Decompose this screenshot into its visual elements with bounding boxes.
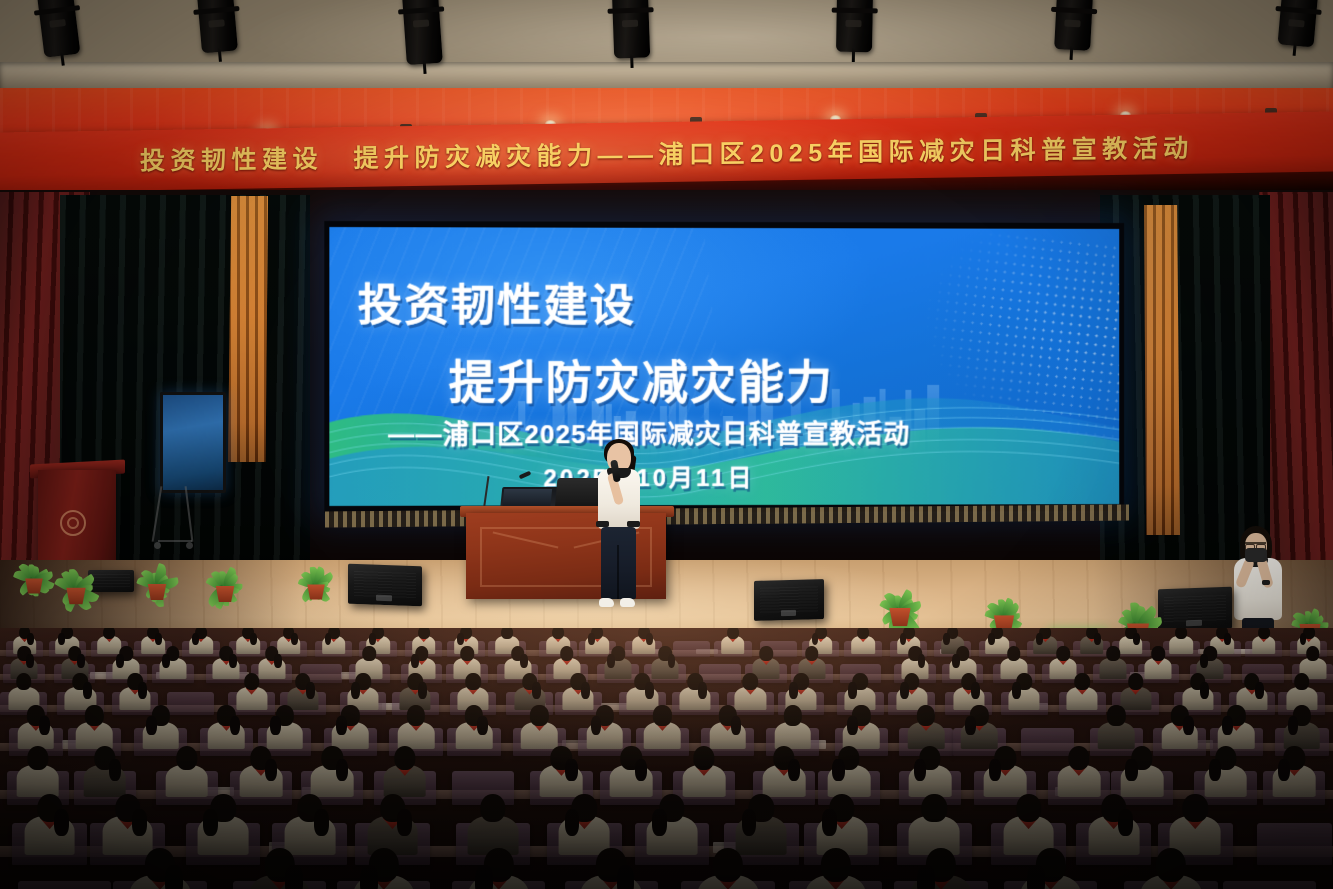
student-head	[743, 673, 759, 690]
slide-subtitle: ——浦口区2025年国际减灾日科普宣教活动	[388, 414, 910, 452]
audience-student	[159, 646, 186, 682]
light-yoke	[832, 8, 878, 14]
student-ponytail	[591, 716, 602, 735]
light-yoke	[34, 5, 80, 16]
student-head	[857, 628, 869, 639]
student-head	[480, 794, 505, 822]
student-head	[530, 705, 548, 725]
student-ponytail	[306, 682, 315, 699]
audience-student	[1161, 705, 1198, 753]
student-ponytail	[822, 809, 837, 836]
light-yoke	[398, 6, 444, 14]
student-ponytail	[1209, 759, 1221, 782]
student-ponytail	[1222, 716, 1233, 735]
student-head	[407, 705, 425, 725]
student-head	[1183, 794, 1208, 822]
student-ponytail	[1125, 759, 1137, 782]
student-ponytail	[917, 865, 935, 889]
student-head	[1106, 646, 1120, 661]
student-ponytail	[138, 682, 147, 699]
student-ponytail	[27, 633, 34, 646]
monitor-badge	[1186, 620, 1202, 626]
student-ponytail	[900, 633, 907, 646]
student-ponytail	[1094, 633, 1101, 646]
student-ponytail	[475, 865, 493, 889]
presenter-trousers	[601, 527, 636, 599]
student-ponytail	[588, 633, 595, 646]
monitor-badge	[781, 610, 796, 616]
student-ponytail	[988, 633, 995, 646]
ceiling	[0, 0, 1333, 92]
student-ponytail	[155, 633, 162, 646]
potted-plant	[140, 564, 174, 600]
student-ponytail	[1255, 682, 1264, 699]
student-head	[418, 628, 430, 639]
student-ponytail	[58, 633, 65, 646]
student-ponytail	[1288, 716, 1299, 735]
student-ponytail	[952, 654, 960, 668]
audience-student	[353, 848, 414, 889]
student-head	[1258, 628, 1270, 639]
led-projection-screen: 投资韧性建设 提升防灾减灾能力 ——浦口区2025年国际减灾日科普宣教活动 20…	[324, 221, 1124, 513]
student-ponytail	[971, 682, 980, 699]
student-ponytail	[742, 809, 757, 836]
auditorium-seat	[1257, 823, 1332, 865]
student-head	[85, 705, 103, 725]
student-ponytail	[270, 716, 281, 735]
monitor-badge	[376, 595, 392, 601]
student-head	[693, 746, 714, 770]
student-ponytail	[477, 716, 488, 735]
student-ponytail	[39, 716, 50, 735]
student-ponytail	[989, 759, 1001, 782]
audience-student	[647, 794, 698, 861]
auditorium-seat	[673, 641, 710, 657]
auditorium-seat	[1223, 881, 1316, 889]
student-ponytail	[116, 654, 124, 668]
student-head	[783, 705, 801, 725]
light-yoke	[1051, 7, 1097, 14]
audience-student	[911, 848, 972, 889]
student-head	[1176, 628, 1188, 639]
stage-monitor-left	[348, 564, 422, 607]
student-ponytail	[1036, 633, 1043, 646]
light-lens	[1288, 19, 1305, 27]
student-ponytail	[847, 716, 858, 735]
student-ponytail	[291, 633, 298, 646]
audience-student	[1020, 848, 1081, 889]
student-ponytail	[1183, 716, 1194, 735]
student-head	[394, 746, 415, 770]
slide-title-line-2: 提升防灾减灾能力	[449, 346, 834, 412]
audience-student	[1067, 673, 1098, 714]
audience-student	[198, 794, 249, 861]
student-head	[16, 673, 32, 690]
interpreter-hands	[1245, 548, 1267, 562]
student-head	[176, 746, 197, 770]
light-lens	[622, 20, 638, 28]
student-ponytail	[646, 633, 653, 646]
student-head	[1107, 705, 1125, 725]
student-ponytail	[520, 654, 528, 668]
stage-monitor-far-left	[88, 570, 134, 592]
student-head	[27, 746, 48, 770]
audience-student	[1252, 628, 1276, 657]
student-ponytail	[635, 759, 647, 782]
audience-student	[1273, 746, 1316, 802]
student-ponytail	[1027, 865, 1045, 889]
student-ponytail	[165, 865, 183, 889]
student-head	[917, 705, 935, 725]
student-head	[501, 628, 513, 639]
audience-student	[189, 628, 213, 657]
slide-surface: 投资韧性建设 提升防灾减灾能力 ——浦口区2025年国际减灾日科普宣教活动 20…	[329, 227, 1119, 506]
event-banner-text: 投资韧性建设 提升防灾减灾能力——浦口区2025年国际减灾日科普宣教活动	[140, 129, 1194, 178]
student-ponytail	[565, 809, 580, 836]
student-ponytail	[914, 759, 926, 782]
student-head	[727, 628, 739, 639]
student-ponytail	[965, 716, 976, 735]
wristwatch-icon	[1262, 580, 1270, 585]
student-head	[922, 794, 947, 822]
student-head	[362, 646, 376, 661]
light-yoke	[1275, 6, 1321, 15]
student-ponytail	[192, 633, 199, 646]
student-head	[1068, 746, 1089, 770]
light-yoke	[193, 6, 239, 15]
auditorium-seat	[18, 881, 111, 889]
presenter-shoe-left	[599, 598, 614, 607]
student-ponytail	[1200, 654, 1208, 668]
audience-student	[1088, 794, 1139, 861]
student-ponytail	[77, 654, 85, 668]
potted-plant	[58, 566, 94, 604]
audience-area	[0, 628, 1333, 889]
student-ponytail	[250, 633, 257, 646]
student-ponytail	[132, 809, 147, 836]
student-head	[1056, 646, 1070, 661]
orange-curtain-right	[1144, 205, 1180, 535]
student-ponytail	[581, 682, 590, 699]
student-head	[759, 646, 773, 661]
student-ponytail	[397, 809, 412, 836]
student-ponytail	[652, 809, 667, 836]
student-head	[1152, 646, 1166, 661]
light-lens	[413, 19, 429, 27]
potted-plant	[300, 566, 332, 600]
laptop-lid	[502, 489, 552, 507]
student-ponytail	[369, 633, 376, 646]
student-ponytail	[1133, 633, 1140, 646]
slide-title-line-1: 投资韧性建设	[358, 269, 636, 334]
light-lens	[1064, 19, 1080, 27]
student-head	[1007, 646, 1021, 661]
potted-plant	[985, 592, 1022, 632]
audience-student	[805, 848, 866, 889]
light-lens	[845, 20, 861, 27]
potted-plant	[18, 560, 50, 594]
student-ponytail	[325, 633, 332, 646]
student-ponytail	[351, 682, 360, 699]
student-ponytail	[943, 633, 950, 646]
stage-monitor-right	[1158, 587, 1232, 632]
audience-student	[130, 848, 191, 889]
audience-student	[698, 848, 759, 889]
monitor-grille	[92, 574, 131, 588]
light-yoke	[608, 7, 654, 14]
student-head	[103, 628, 115, 639]
student-ponytail	[411, 654, 419, 668]
student-ponytail	[1200, 682, 1209, 699]
student-ponytail	[1012, 682, 1021, 699]
audience-student	[680, 673, 711, 714]
stage-light-icon	[612, 0, 650, 59]
student-ponytail	[900, 682, 909, 699]
audience-student	[581, 848, 642, 889]
audience-student	[249, 848, 310, 889]
student-head	[1156, 848, 1186, 882]
student-ponytail	[848, 682, 857, 699]
student-head	[244, 673, 260, 690]
student-ponytail	[1224, 633, 1231, 646]
student-head	[560, 646, 574, 661]
light-lens	[49, 19, 66, 28]
monitor-on-cart	[160, 392, 226, 493]
lectern-emblem-icon	[60, 510, 86, 536]
audience-student	[456, 705, 493, 753]
student-head	[465, 673, 481, 690]
student-ponytail	[832, 759, 844, 782]
stage-light-icon	[37, 0, 80, 58]
student-head	[1294, 673, 1310, 690]
student-ponytail	[789, 682, 798, 699]
student-ponytail	[203, 809, 218, 836]
student-head	[552, 628, 564, 639]
audience-student	[468, 848, 529, 889]
audience-student	[1170, 628, 1194, 657]
student-ponytail	[265, 759, 277, 782]
student-ponytail	[336, 716, 347, 735]
student-ponytail	[229, 654, 237, 668]
potted-plant	[208, 566, 242, 602]
student-head	[653, 705, 671, 725]
student-ponytail	[146, 716, 157, 735]
audience-student	[851, 628, 875, 657]
audience-student	[1141, 848, 1202, 889]
stage-light-icon	[1278, 0, 1318, 47]
student-ponytail	[360, 865, 378, 889]
student-ponytail	[607, 654, 615, 668]
audience-student	[24, 794, 75, 861]
student-head	[1306, 646, 1320, 661]
light-lens	[208, 19, 225, 27]
student-head	[821, 848, 851, 882]
presenter	[592, 443, 644, 611]
student-ponytail	[1278, 759, 1290, 782]
student-ponytail	[162, 654, 170, 668]
student-ponytail	[26, 654, 34, 668]
monitor-cart-legs	[152, 486, 230, 550]
student-ponytail	[565, 759, 577, 782]
student-ponytail	[109, 759, 121, 782]
student-ponytail	[314, 809, 329, 836]
student-ponytail	[532, 682, 541, 699]
orange-curtain-left	[228, 196, 268, 462]
student-ponytail	[336, 759, 348, 782]
student-ponytail	[54, 809, 69, 836]
potted-plant	[880, 584, 919, 625]
student-ponytail	[230, 716, 241, 735]
student-head	[1074, 673, 1090, 690]
student-ponytail	[617, 865, 635, 889]
audience-student	[1009, 673, 1040, 714]
student-ponytail	[274, 654, 282, 668]
student-ponytail	[645, 682, 654, 699]
student-ponytail	[418, 682, 427, 699]
auditorium-scene: 投资韧性建设 提升防灾减灾能力——浦口区2025年国际减灾日科普宣教活动	[0, 0, 1333, 889]
student-ponytail	[1118, 809, 1133, 836]
student-ponytail	[788, 759, 800, 782]
audience-student	[721, 628, 745, 657]
student-head	[460, 646, 474, 661]
audience-student	[322, 628, 346, 657]
presenter-shoe-right	[620, 598, 635, 607]
student-head	[805, 646, 819, 661]
stage-light-icon	[402, 0, 443, 65]
stage-monitor-center	[754, 579, 824, 621]
student-head	[1128, 673, 1144, 690]
student-ponytail	[731, 716, 742, 735]
student-ponytail	[457, 633, 464, 646]
student-head	[713, 848, 743, 882]
stage-light-icon	[1054, 0, 1093, 51]
student-ponytail	[83, 682, 92, 699]
student-ponytail	[285, 865, 303, 889]
student-head	[1016, 794, 1041, 822]
stage-light-icon	[197, 0, 238, 53]
student-ponytail	[698, 682, 707, 699]
stage-light-icon	[836, 0, 873, 52]
